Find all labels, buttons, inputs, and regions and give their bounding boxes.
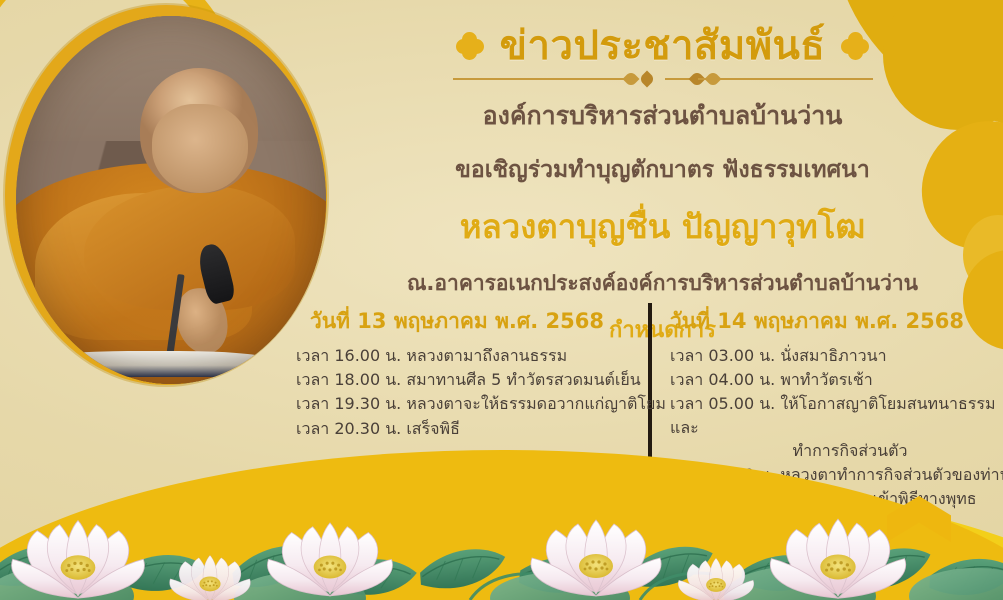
list-item-text: เวลา 05.00 น. ให้โอกาสญาติโยมสนทนาธรรมแล… — [670, 394, 996, 436]
quatrefoil-ornament-right-icon — [841, 32, 869, 60]
list-item-text: เวลา 03.00 น. นั่งสมาธิภาวนา — [670, 346, 887, 365]
monk-photo — [16, 16, 326, 384]
schedule-day1-column: วันที่ 13 พฤษภาคม พ.ศ. 2568 เวลา 16.00 น… — [296, 305, 656, 441]
list-item-continuation: ทำการกิจส่วนตัว — [670, 439, 1000, 462]
list-item: เวลา 20.30 น. เสร็จพิธี — [296, 417, 644, 440]
list-item: เวลา 05.00 น. ให้โอกาสญาติโยมสนทนาธรรมแล… — [670, 392, 1000, 462]
page-title: ข่าวประชาสัมพันธ์ — [500, 24, 826, 68]
header-block: ข่าวประชาสัมพันธ์ องค์การบริหารส่วนตำบลบ… — [340, 24, 985, 347]
invitation-line: ขอเชิญร่วมทำบุญตักบาตร ฟังธรรมเทศนา — [340, 152, 985, 188]
photo-vignette — [16, 16, 326, 384]
day1-heading: วันที่ 13 พฤษภาคม พ.ศ. 2568 — [296, 305, 644, 338]
list-item: เวลา 19.30 น. หลวงตาจะให้ธรรมดอวากแก่ญาต… — [296, 392, 644, 415]
monk-name: หลวงตาบุญชื่น ปัญญาวุทโฒ — [340, 200, 985, 253]
monk-photo-frame — [5, 5, 327, 385]
day2-heading: วันที่ 14 พฤษภาคม พ.ศ. 2568 — [670, 305, 1000, 338]
venue-line: ณ.อาคารอเนกประสงค์องค์การบริหารส่วนตำบลบ… — [340, 267, 985, 300]
list-item: เวลา 16.00 น. หลวงตามาถึงลานธรรม — [296, 344, 644, 367]
list-item: เวลา 03.00 น. นั่งสมาธิภาวนา — [670, 344, 1000, 367]
title-row: ข่าวประชาสัมพันธ์ — [340, 24, 985, 68]
organization-name: องค์การบริหารส่วนตำบลบ้านว่าน — [340, 96, 985, 136]
list-item: เวลา 18.00 น. สมาทานศีล 5 ทำวัตรสวดมนต์เ… — [296, 368, 644, 391]
day1-item-list: เวลา 16.00 น. หลวงตามาถึงลานธรรม เวลา 18… — [296, 344, 644, 440]
list-item: เวลา 04.00 น. พาทำวัตรเช้า — [670, 368, 1000, 391]
quatrefoil-ornament-left-icon — [456, 32, 484, 60]
title-divider-ornament-icon — [453, 72, 873, 86]
poster-canvas: ข่าวประชาสัมพันธ์ องค์การบริหารส่วนตำบลบ… — [0, 0, 1003, 600]
list-item-text: เวลา 04.00 น. พาทำวัตรเช้า — [670, 370, 873, 389]
